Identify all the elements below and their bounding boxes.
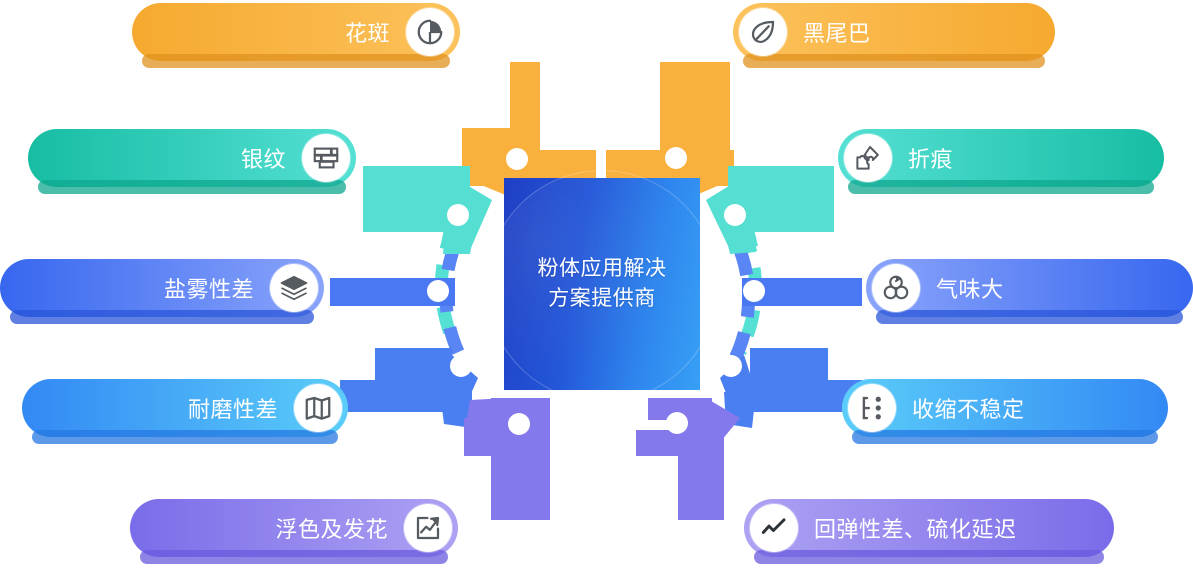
leaf-icon: [739, 8, 787, 56]
connector-sky-right: [720, 348, 862, 428]
open-book-icon: [294, 384, 342, 432]
connector-dot: [506, 148, 528, 170]
node-label: 盐雾性差: [164, 272, 254, 304]
connector-dot: [724, 204, 746, 226]
node-yan-wu-xing-cha[interactable]: 盐雾性差: [0, 259, 324, 317]
recycle-icon: [872, 264, 920, 312]
pill-shadow: [140, 550, 448, 564]
node-label: 收缩不稳定: [912, 392, 1025, 424]
node-hui-tan-xing-cha[interactable]: 回弹性差、硫化延迟: [744, 499, 1114, 557]
pill-shadow: [38, 180, 346, 194]
connector-dot: [666, 412, 688, 434]
node-fu-se-ji-fa-hua[interactable]: 浮色及发花: [130, 499, 458, 557]
connector-orange-left: [462, 62, 596, 196]
connector-dot: [450, 355, 472, 377]
node-shou-suo-bu-wen-ding[interactable]: 收缩不稳定: [842, 379, 1168, 437]
trend-box-icon: [404, 504, 452, 552]
sitemap-icon: [848, 384, 896, 432]
node-label: 银纹: [241, 142, 286, 174]
pill-shadow: [32, 430, 338, 444]
brick-wall-icon: [302, 134, 350, 182]
connector-dot: [427, 280, 449, 302]
node-hei-wei-ba[interactable]: 黑尾巴: [733, 3, 1055, 61]
node-zhe-hen[interactable]: 折痕: [838, 129, 1164, 187]
node-label: 花斑: [345, 16, 390, 48]
connector-dot: [665, 147, 687, 169]
node-nai-mo-xing-cha[interactable]: 耐磨性差: [22, 379, 348, 437]
layers-icon: [270, 264, 318, 312]
pill-shadow: [10, 310, 314, 324]
infographic-canvas: 粉体应用解决 方案提供商 花斑 银纹 盐: [0, 0, 1193, 577]
pill-shadow: [142, 54, 450, 68]
pill-shadow: [743, 54, 1045, 68]
line-chart-icon: [750, 504, 798, 552]
pill-shadow: [852, 430, 1158, 444]
node-yin-wen[interactable]: 银纹: [28, 129, 356, 187]
pill-shadow: [876, 310, 1183, 324]
pie-chart-icon: [406, 8, 454, 56]
center-label: 粉体应用解决 方案提供商: [504, 254, 700, 314]
connector-dot: [447, 204, 469, 226]
pill-shadow: [848, 180, 1154, 194]
node-qi-wei-da[interactable]: 气味大: [866, 259, 1193, 317]
connector-purple-left: [464, 398, 550, 520]
node-label: 浮色及发花: [275, 512, 388, 544]
node-label: 气味大: [936, 272, 1004, 304]
puzzle-icon: [844, 134, 892, 182]
node-label: 折痕: [908, 142, 953, 174]
center-node: 粉体应用解决 方案提供商: [504, 178, 700, 390]
connector-dot: [508, 413, 530, 435]
node-label: 回弹性差、硫化延迟: [814, 512, 1017, 544]
node-hua-ban[interactable]: 花斑: [132, 3, 460, 61]
node-label: 黑尾巴: [803, 16, 871, 48]
connector-orange-right: [606, 62, 736, 196]
node-label: 耐磨性差: [188, 392, 278, 424]
connector-dot: [720, 355, 742, 377]
connector-dot: [743, 280, 765, 302]
pill-shadow: [754, 550, 1104, 564]
connector-purple-right: [636, 398, 740, 520]
